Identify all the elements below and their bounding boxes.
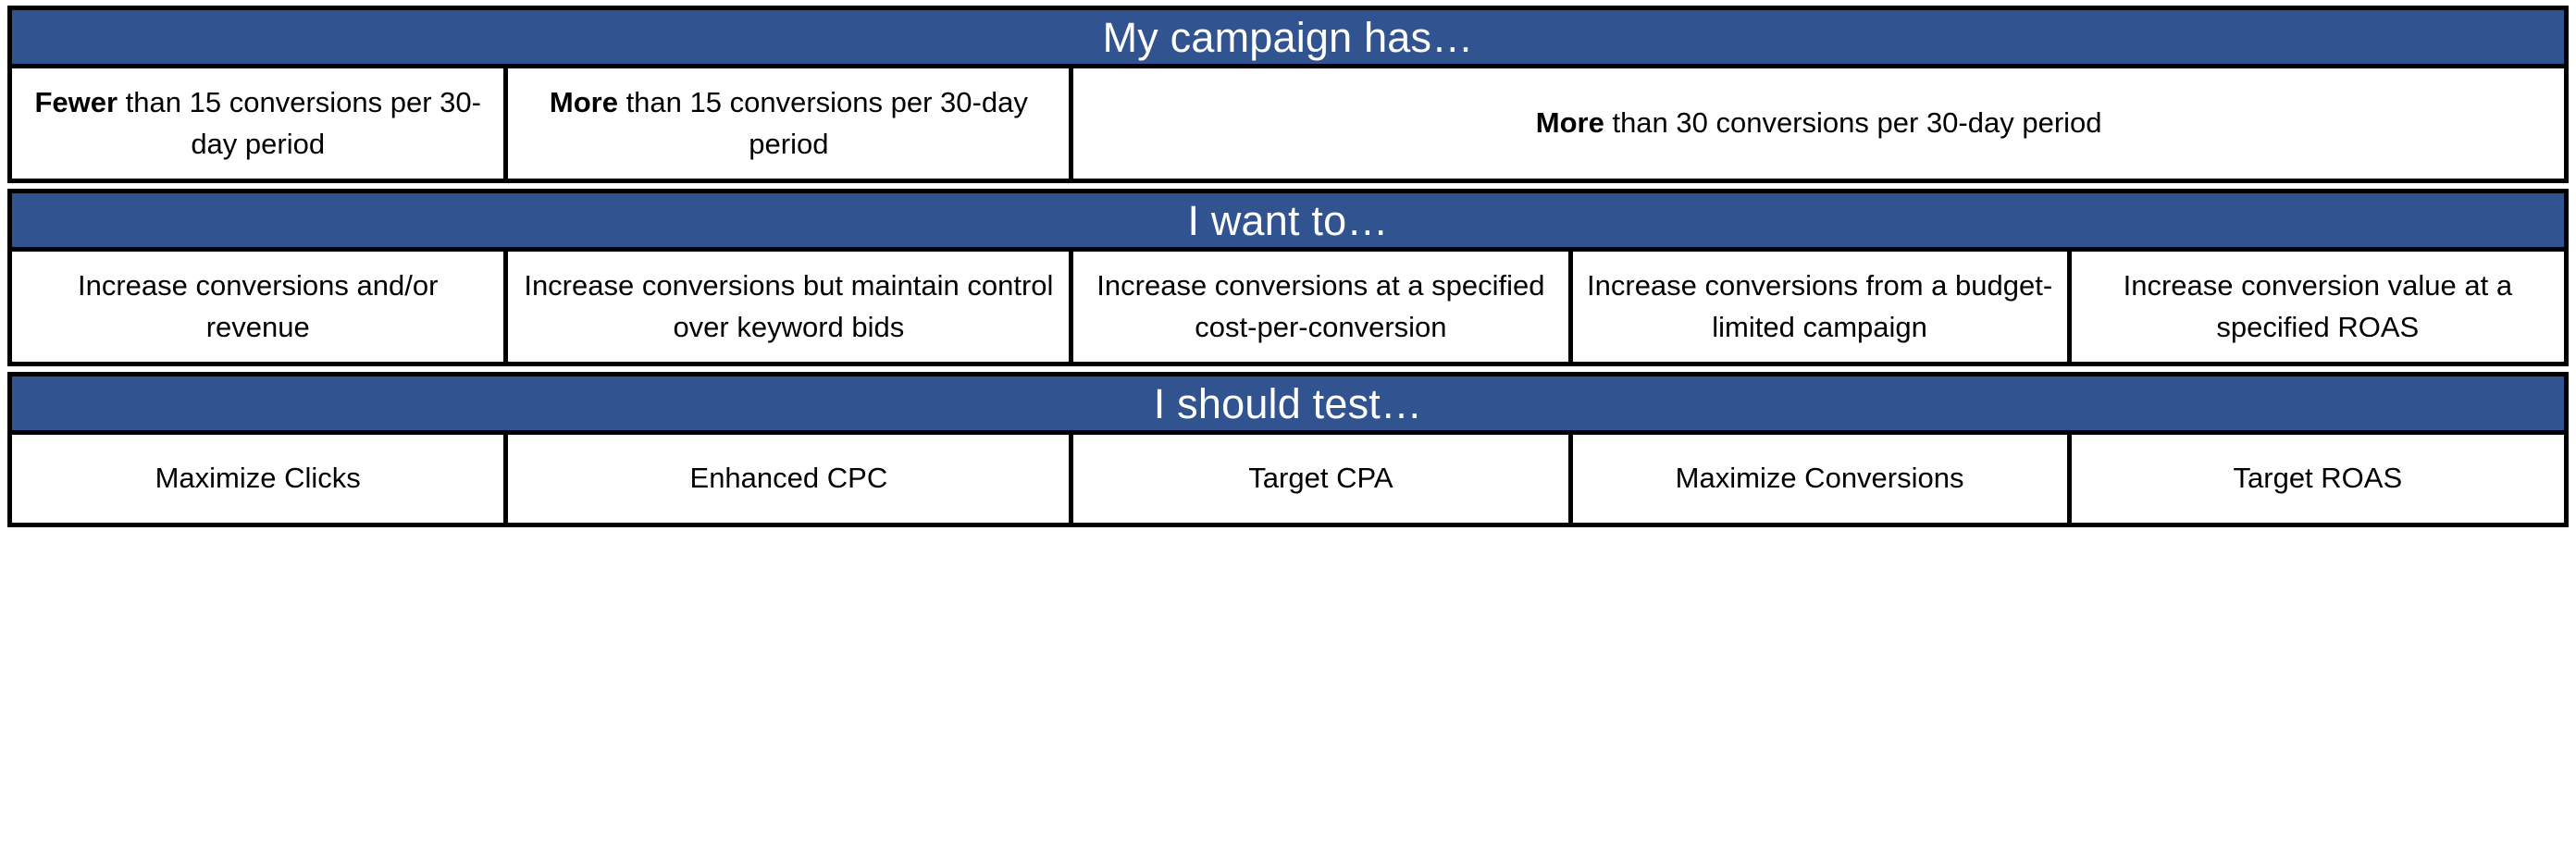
strategy-option-text-4: Maximize Conversions bbox=[1676, 458, 1964, 499]
campaign-condition-emphasis-2: More bbox=[550, 86, 618, 118]
goal-option-text-3: Increase conversions at a specified cost… bbox=[1086, 265, 1554, 347]
campaign-condition-text-1: Fewer than 15 conversions per 30-day per… bbox=[25, 82, 490, 164]
section-header-test: I should test… bbox=[7, 372, 2569, 435]
goal-option-text-4: Increase conversions from a budget-limit… bbox=[1586, 265, 2054, 347]
strategy-option-text-2: Enhanced CPC bbox=[690, 458, 888, 499]
campaign-condition-rest-1: than 15 conversions per 30-day period bbox=[118, 86, 481, 159]
goal-options-row: Increase conversions and/or revenue Incr… bbox=[7, 252, 2569, 366]
goal-option-cell-2[interactable]: Increase conversions but maintain contro… bbox=[508, 252, 1073, 362]
campaign-condition-rest-3: than 30 conversions per 30-day period bbox=[1604, 106, 2102, 139]
strategy-option-cell-3[interactable]: Target CPA bbox=[1073, 435, 1572, 523]
campaign-condition-cell-1[interactable]: Fewer than 15 conversions per 30-day per… bbox=[12, 68, 508, 179]
strategy-option-cell-5[interactable]: Target ROAS bbox=[2072, 435, 2564, 523]
section-header-test-title: I should test… bbox=[1154, 383, 1422, 425]
goal-option-cell-3[interactable]: Increase conversions at a specified cost… bbox=[1073, 252, 1572, 362]
campaign-condition-cell-2[interactable]: More than 15 conversions per 30-day peri… bbox=[508, 68, 1073, 179]
strategy-option-text-3: Target CPA bbox=[1248, 458, 1393, 499]
campaign-condition-text-2: More than 15 conversions per 30-day peri… bbox=[521, 82, 1056, 164]
campaign-condition-emphasis-3: More bbox=[1536, 106, 1604, 139]
strategy-options-row: Maximize Clicks Enhanced CPC Target CPA … bbox=[7, 435, 2569, 527]
strategy-option-cell-2[interactable]: Enhanced CPC bbox=[508, 435, 1073, 523]
strategy-option-text-5: Target ROAS bbox=[2234, 458, 2403, 499]
campaign-conditions-row: Fewer than 15 conversions per 30-day per… bbox=[7, 68, 2569, 183]
campaign-condition-text-3: More than 30 conversions per 30-day peri… bbox=[1536, 103, 2102, 143]
section-header-campaign-title: My campaign has… bbox=[1103, 17, 1474, 58]
strategy-option-cell-4[interactable]: Maximize Conversions bbox=[1573, 435, 2072, 523]
section-header-campaign: My campaign has… bbox=[7, 6, 2569, 68]
goal-option-cell-4[interactable]: Increase conversions from a budget-limit… bbox=[1573, 252, 2072, 362]
goal-option-text-2: Increase conversions but maintain contro… bbox=[521, 265, 1056, 347]
bidding-strategy-flowchart: My campaign has… Fewer than 15 conversio… bbox=[0, 0, 2576, 864]
goal-option-cell-5[interactable]: Increase conversion value at a specified… bbox=[2072, 252, 2564, 362]
campaign-condition-cell-3[interactable]: More than 30 conversions per 30-day peri… bbox=[1073, 68, 2564, 179]
strategy-option-text-1: Maximize Clicks bbox=[155, 458, 361, 499]
goal-option-cell-1[interactable]: Increase conversions and/or revenue bbox=[12, 252, 508, 362]
strategy-option-cell-1[interactable]: Maximize Clicks bbox=[12, 435, 508, 523]
goal-option-text-1: Increase conversions and/or revenue bbox=[25, 265, 490, 347]
section-header-goal: I want to… bbox=[7, 189, 2569, 252]
campaign-condition-rest-2: than 15 conversions per 30-day period bbox=[618, 86, 1028, 159]
goal-option-text-5: Increase conversion value at a specified… bbox=[2085, 265, 2551, 347]
section-header-goal-title: I want to… bbox=[1187, 200, 1388, 241]
campaign-condition-emphasis-1: Fewer bbox=[34, 86, 118, 118]
